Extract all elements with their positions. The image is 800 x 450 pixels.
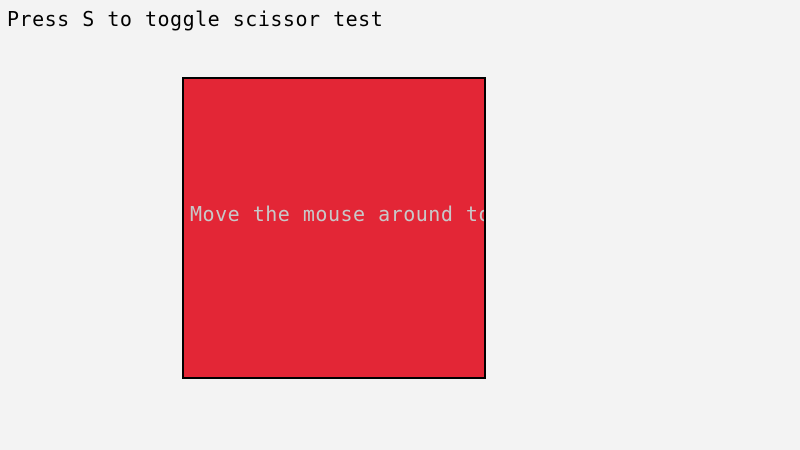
scissor-region[interactable]: Move the mouse around to r — [182, 77, 486, 379]
scissor-fill-rect — [184, 79, 484, 377]
app-window: Press S to toggle scissor test Move the … — [0, 0, 800, 450]
clipped-message-text: Move the mouse around to r — [190, 202, 486, 226]
instruction-text: Press S to toggle scissor test — [7, 7, 383, 31]
